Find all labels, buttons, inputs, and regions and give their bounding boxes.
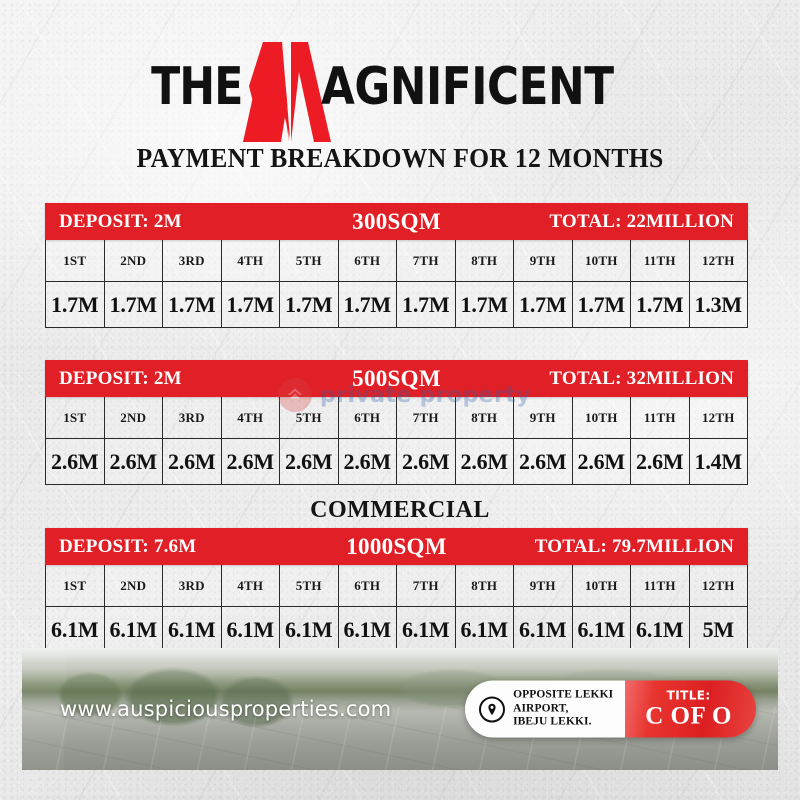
address-line-2: AIRPORT, [513, 702, 568, 714]
location-pin-icon [479, 696, 505, 722]
table-1000sqm-value-row: 6.1M 6.1M 6.1M 6.1M 6.1M 6.1M 6.1M 6.1M … [45, 607, 748, 653]
payment-cell: 6.1M [280, 607, 339, 652]
payment-cell: 2.6M [456, 439, 515, 484]
payment-cell: 1.7M [222, 282, 281, 327]
total-label: TOTAL: 22MILLION [549, 211, 734, 233]
payment-cell: 1.7M [573, 282, 632, 327]
payment-cell: 2.6M [339, 439, 398, 484]
logo-magnificent-text: AGNIFICENT [321, 61, 614, 113]
payment-cell: 1.7M [339, 282, 398, 327]
month-cell: 4TH [222, 397, 281, 438]
payment-cell: 6.1M [631, 607, 690, 652]
month-cell: 10TH [573, 565, 632, 606]
section-heading-commercial: COMMERCIAL [0, 497, 800, 524]
month-cell: 6TH [339, 565, 398, 606]
payment-cell: 6.1M [514, 607, 573, 652]
total-label: TOTAL: 32MILLION [549, 368, 734, 390]
month-cell: 4TH [222, 240, 281, 281]
payment-cell: 2.6M [514, 439, 573, 484]
address-line-1: OPPOSITE LEKKI [513, 688, 613, 700]
table-500sqm-month-row: 1ST 2ND 3RD 4TH 5TH 6TH 7TH 8TH 9TH 10TH… [45, 397, 748, 439]
month-cell: 12TH [690, 397, 748, 438]
footer-info-pill: OPPOSITE LEKKI AIRPORT, IBEJU LEKKI. TIT… [465, 681, 756, 738]
payment-cell: 2.6M [397, 439, 456, 484]
payment-cell: 2.6M [280, 439, 339, 484]
poster: THE AGNIFICENT PAYMENT BREAKDOWN FOR 12 … [0, 0, 800, 800]
month-cell: 4TH [222, 565, 281, 606]
month-cell: 1ST [46, 240, 105, 281]
payment-cell: 6.1M [397, 607, 456, 652]
month-cell: 2ND [105, 565, 164, 606]
payment-cell: 2.6M [46, 439, 105, 484]
month-cell: 11TH [631, 565, 690, 606]
website-url[interactable]: www.auspiciousproperties.com [60, 697, 391, 721]
table-300sqm-header: DEPOSIT: 2M 300SQM TOTAL: 22MILLION [45, 203, 748, 240]
location-block: OPPOSITE LEKKI AIRPORT, IBEJU LEKKI. [465, 681, 625, 738]
month-cell: 2ND [105, 397, 164, 438]
month-cell: 7TH [397, 240, 456, 281]
payment-cell: 6.1M [163, 607, 222, 652]
title-label: TITLE: [667, 690, 711, 702]
payment-cell: 1.7M [280, 282, 339, 327]
payment-cell: 1.7M [631, 282, 690, 327]
payment-cell: 1.7M [456, 282, 515, 327]
month-cell: 10TH [573, 240, 632, 281]
payment-cell: 6.1M [46, 607, 105, 652]
table-1000sqm: DEPOSIT: 7.6M 1000SQM TOTAL: 79.7MILLION… [45, 528, 748, 653]
month-cell: 1ST [46, 565, 105, 606]
table-300sqm-month-row: 1ST 2ND 3RD 4TH 5TH 6TH 7TH 8TH 9TH 10TH… [45, 240, 748, 282]
brand-logo: THE AGNIFICENT [0, 44, 800, 130]
month-cell: 8TH [456, 397, 515, 438]
payment-cell: 2.6M [222, 439, 281, 484]
table-500sqm-header: DEPOSIT: 2M 500SQM TOTAL: 32MILLION [45, 360, 748, 397]
payment-cell: 6.1M [456, 607, 515, 652]
logo-the-text: THE [151, 61, 242, 113]
table-300sqm: DEPOSIT: 2M 300SQM TOTAL: 22MILLION 1ST … [45, 203, 748, 328]
payment-cell: 6.1M [222, 607, 281, 652]
table-300sqm-value-row: 1.7M 1.7M 1.7M 1.7M 1.7M 1.7M 1.7M 1.7M … [45, 282, 748, 328]
month-cell: 8TH [456, 565, 515, 606]
month-cell: 3RD [163, 240, 222, 281]
month-cell: 11TH [631, 397, 690, 438]
month-cell: 9TH [514, 397, 573, 438]
title-badge: TITLE: C OF O [625, 681, 756, 738]
table-1000sqm-header: DEPOSIT: 7.6M 1000SQM TOTAL: 79.7MILLION [45, 528, 748, 565]
month-cell: 7TH [397, 397, 456, 438]
payment-cell: 2.6M [163, 439, 222, 484]
page-subtitle: PAYMENT BREAKDOWN FOR 12 MONTHS [20, 143, 780, 174]
month-cell: 12TH [690, 240, 748, 281]
month-cell: 8TH [456, 240, 515, 281]
total-label: TOTAL: 79.7MILLION [535, 536, 734, 558]
month-cell: 6TH [339, 397, 398, 438]
payment-cell: 6.1M [573, 607, 632, 652]
month-cell: 9TH [514, 240, 573, 281]
month-cell: 3RD [163, 397, 222, 438]
payment-cell: 1.7M [514, 282, 573, 327]
month-cell: 6TH [339, 240, 398, 281]
payment-cell: 2.6M [631, 439, 690, 484]
payment-cell: 1.7M [105, 282, 164, 327]
month-cell: 5TH [280, 397, 339, 438]
footer-banner: www.auspiciousproperties.com OPPOSITE LE… [22, 648, 778, 770]
payment-cell: 6.1M [339, 607, 398, 652]
title-value: C OF O [645, 704, 732, 729]
payment-cell: 1.7M [397, 282, 456, 327]
payment-cell: 6.1M [105, 607, 164, 652]
table-1000sqm-month-row: 1ST 2ND 3RD 4TH 5TH 6TH 7TH 8TH 9TH 10TH… [45, 565, 748, 607]
payment-cell: 1.4M [690, 439, 748, 484]
month-cell: 3RD [163, 565, 222, 606]
address-line-3: IBEJU LEKKI. [513, 716, 592, 728]
month-cell: 5TH [280, 240, 339, 281]
payment-cell: 2.6M [573, 439, 632, 484]
table-500sqm: DEPOSIT: 2M 500SQM TOTAL: 32MILLION 1ST … [45, 360, 748, 485]
table-500sqm-value-row: 2.6M 2.6M 2.6M 2.6M 2.6M 2.6M 2.6M 2.6M … [45, 439, 748, 485]
month-cell: 9TH [514, 565, 573, 606]
month-cell: 11TH [631, 240, 690, 281]
month-cell: 5TH [280, 565, 339, 606]
month-cell: 2ND [105, 240, 164, 281]
payment-cell: 1.3M [690, 282, 748, 327]
payment-cell: 1.7M [46, 282, 105, 327]
payment-cell: 5M [690, 607, 748, 652]
payment-cell: 2.6M [105, 439, 164, 484]
month-cell: 12TH [690, 565, 748, 606]
month-cell: 1ST [46, 397, 105, 438]
month-cell: 7TH [397, 565, 456, 606]
month-cell: 10TH [573, 397, 632, 438]
address-text: OPPOSITE LEKKI AIRPORT, IBEJU LEKKI. [513, 688, 613, 729]
payment-cell: 1.7M [163, 282, 222, 327]
